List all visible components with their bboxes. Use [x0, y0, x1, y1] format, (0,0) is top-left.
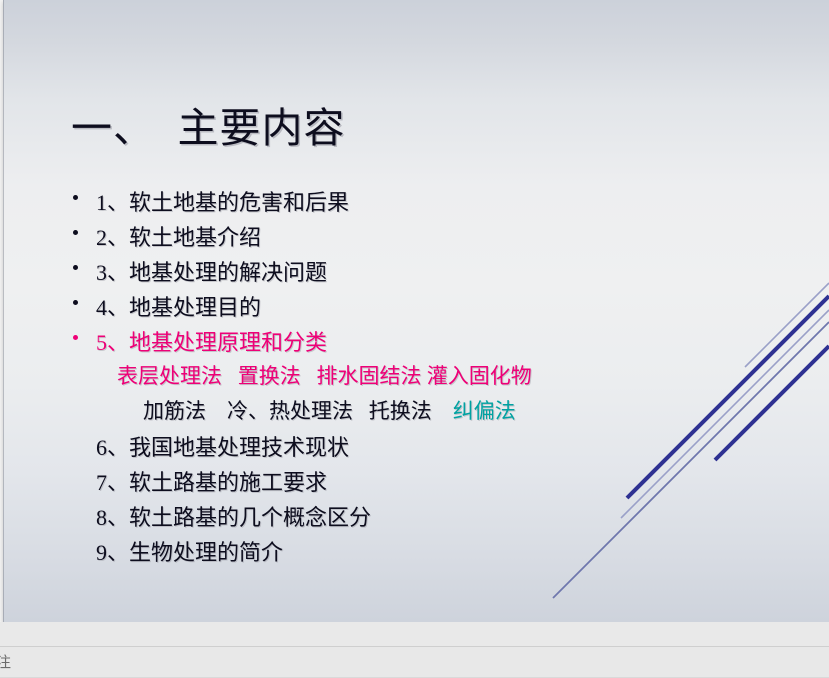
- sub-list-item-1[interactable]: 表层处理法 置换法 排水固结法 灌入固化物: [3, 357, 829, 392]
- bullet-dot-icon: [73, 265, 78, 270]
- list-item-3[interactable]: 3、地基处理的解决问题: [3, 252, 829, 287]
- list-item-label: 1、软土地基的危害和后果: [96, 185, 349, 217]
- sub-list-item-text: 加筋法 冷、热处理法 托换法: [143, 399, 432, 423]
- page-title: 一、 主要内容: [71, 106, 346, 151]
- content-list: 1、软土地基的危害和后果 2、软土地基介绍 3、地基处理的解决问题 4、地基处理…: [3, 182, 829, 567]
- bullet-dot-icon: [73, 335, 78, 340]
- list-item-5-highlighted[interactable]: 5、地基处理原理和分类: [3, 322, 829, 357]
- bullet-dot-icon: [73, 230, 78, 235]
- slide-bottom-gap: [0, 622, 829, 647]
- list-item-label: 8、软土路基的几个概念区分: [96, 500, 371, 532]
- list-item-label: 5、地基处理原理和分类: [96, 325, 327, 357]
- slide-editor-window: 一、 主要内容 1、软土地基的危害和后果 2、软土地基介绍 3、地基处理的解决问…: [0, 0, 829, 677]
- list-item-4[interactable]: 4、地基处理目的: [3, 287, 829, 322]
- list-item-label: 2、软土地基介绍: [96, 220, 261, 252]
- sub-list-item-2[interactable]: 加筋法 冷、热处理法 托换法 纠偏法: [3, 392, 829, 427]
- sub-list-item-label: 表层处理法 置换法 排水固结法 灌入固化物: [117, 360, 532, 390]
- list-item-label: 6、我国地基处理技术现状: [96, 430, 349, 462]
- list-item-7[interactable]: 7、软土路基的施工要求: [3, 462, 829, 497]
- list-item-1[interactable]: 1、软土地基的危害和后果: [3, 182, 829, 217]
- slide-canvas[interactable]: 一、 主要内容 1、软土地基的危害和后果 2、软土地基介绍 3、地基处理的解决问…: [3, 0, 829, 622]
- bullet-dot-icon: [73, 300, 78, 305]
- sub-list-item-label: 加筋法 冷、热处理法 托换法 纠偏法: [143, 395, 516, 425]
- list-item-label: 4、地基处理目的: [96, 290, 261, 322]
- list-item-8[interactable]: 8、软土路基的几个概念区分: [3, 497, 829, 532]
- list-item-9[interactable]: 9、生物处理的简介: [3, 532, 829, 567]
- list-item-label: 9、生物处理的简介: [96, 535, 283, 567]
- list-item-2[interactable]: 2、软土地基介绍: [3, 217, 829, 252]
- bullet-dot-icon: [73, 195, 78, 200]
- sub-list-item-highlight: 纠偏法: [453, 399, 516, 423]
- list-item-label: 3、地基处理的解决问题: [96, 255, 327, 287]
- list-item-label: 7、软土路基的施工要求: [96, 465, 327, 497]
- notes-pane[interactable]: 注: [0, 647, 829, 678]
- list-item-6[interactable]: 6、我国地基处理技术现状: [3, 427, 829, 462]
- notes-label: 注: [0, 651, 11, 672]
- sub-list-item-spacer: [432, 399, 453, 423]
